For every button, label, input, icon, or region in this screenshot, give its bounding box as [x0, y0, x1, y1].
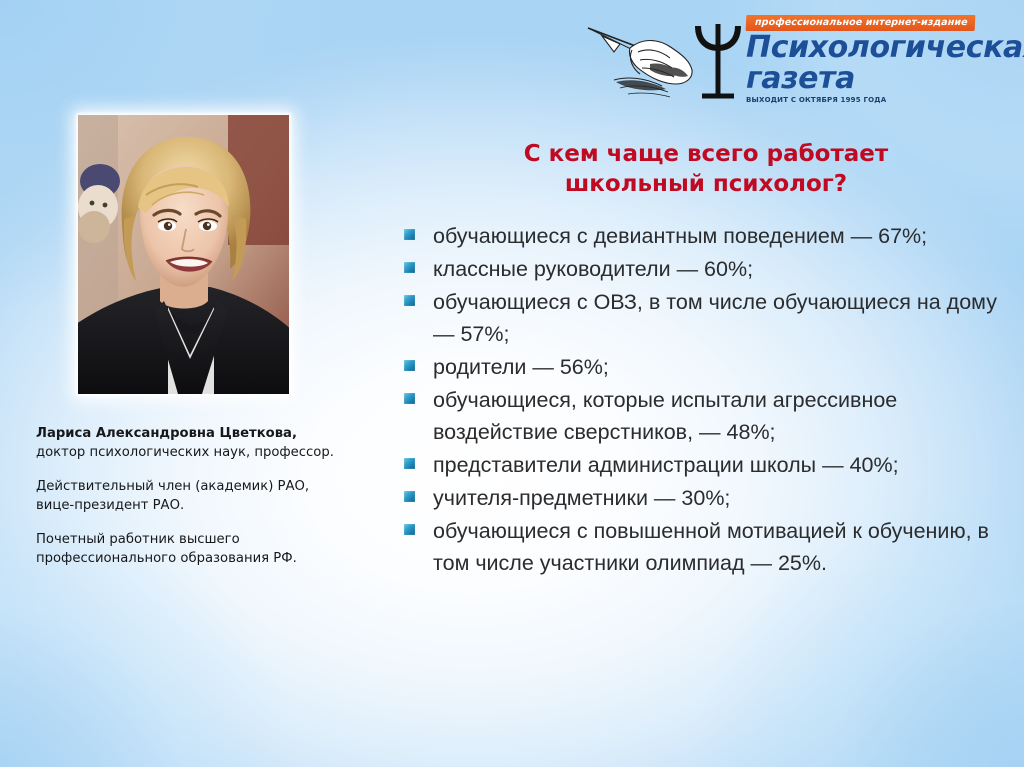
- portrait-photo: [78, 115, 289, 394]
- square-bullet-icon: [404, 393, 415, 404]
- hand-with-pen-icon: [580, 8, 746, 108]
- list-item-label: обучающиеся, которые испытали агрессивно…: [433, 384, 1012, 448]
- masthead-title: Психологическая газета: [746, 32, 1024, 94]
- list-item: обучающиеся, которые испытали агрессивно…: [404, 384, 1012, 448]
- list-item-label: обучающиеся с повышенной мотивацией к об…: [433, 515, 1012, 579]
- speaker-titles: доктор психологических наук, профессор.: [36, 443, 406, 462]
- masthead-title-line2: газета: [746, 63, 1024, 94]
- list-item: обучающиеся с ОВЗ, в том числе обучающие…: [404, 286, 1012, 350]
- statistics-bullet-list: обучающиеся с девиантным поведением — 67…: [404, 220, 1012, 580]
- slide-canvas: профессиональное интернет-издание Психол…: [0, 0, 1024, 767]
- list-item: учителя-предметники — 30%;: [404, 482, 1012, 514]
- speaker-bio: Лариса Александровна Цветкова, доктор пс…: [36, 424, 406, 568]
- page-title-line2: школьный психолог?: [406, 169, 1006, 199]
- masthead-text-block: профессиональное интернет-издание Психол…: [746, 8, 1024, 104]
- bio-academy-line1: Действительный член (академик) РАО,: [36, 477, 406, 496]
- list-item-label: обучающиеся с ОВЗ, в том числе обучающие…: [433, 286, 1012, 350]
- publication-masthead: профессиональное интернет-издание Психол…: [580, 8, 1016, 112]
- speaker-name: Лариса Александровна Цветкова,: [36, 424, 406, 443]
- bio-paragraph-honors: Почетный работник высшего профессиональн…: [36, 530, 406, 568]
- bio-honors-line1: Почетный работник высшего: [36, 530, 406, 549]
- bio-academy-line2: вице-президент РАО.: [36, 496, 406, 515]
- list-item: родители — 56%;: [404, 351, 1012, 383]
- square-bullet-icon: [404, 491, 415, 502]
- masthead-since-label: ВЫХОДИТ С ОКТЯБРЯ 1995 ГОДА: [746, 96, 1024, 104]
- square-bullet-icon: [404, 262, 415, 273]
- list-item: классные руководители — 60%;: [404, 253, 1012, 285]
- bio-paragraph-academy: Действительный член (академик) РАО, вице…: [36, 477, 406, 515]
- list-item-label: обучающиеся с девиантным поведением — 67…: [433, 220, 1012, 252]
- list-item-label: классные руководители — 60%;: [433, 253, 1012, 285]
- page-title: С кем чаще всего работает школьный психо…: [406, 139, 1006, 199]
- list-item-label: представители администрации школы — 40%;: [433, 449, 1012, 481]
- list-item: представители администрации школы — 40%;: [404, 449, 1012, 481]
- square-bullet-icon: [404, 229, 415, 240]
- bio-honors-line2: профессионального образования РФ.: [36, 549, 406, 568]
- square-bullet-icon: [404, 295, 415, 306]
- bio-paragraph-name: Лариса Александровна Цветкова, доктор пс…: [36, 424, 406, 462]
- masthead-title-line1: Психологическая: [746, 30, 1024, 65]
- square-bullet-icon: [404, 458, 415, 469]
- list-item: обучающиеся с девиантным поведением — 67…: [404, 220, 1012, 252]
- page-title-line1: С кем чаще всего работает: [406, 139, 1006, 169]
- list-item: обучающиеся с повышенной мотивацией к об…: [404, 515, 1012, 579]
- list-item-label: родители — 56%;: [433, 351, 1012, 383]
- masthead-ribbon: профессиональное интернет-издание: [746, 15, 975, 31]
- list-item-label: учителя-предметники — 30%;: [433, 482, 1012, 514]
- square-bullet-icon: [404, 524, 415, 535]
- square-bullet-icon: [404, 360, 415, 371]
